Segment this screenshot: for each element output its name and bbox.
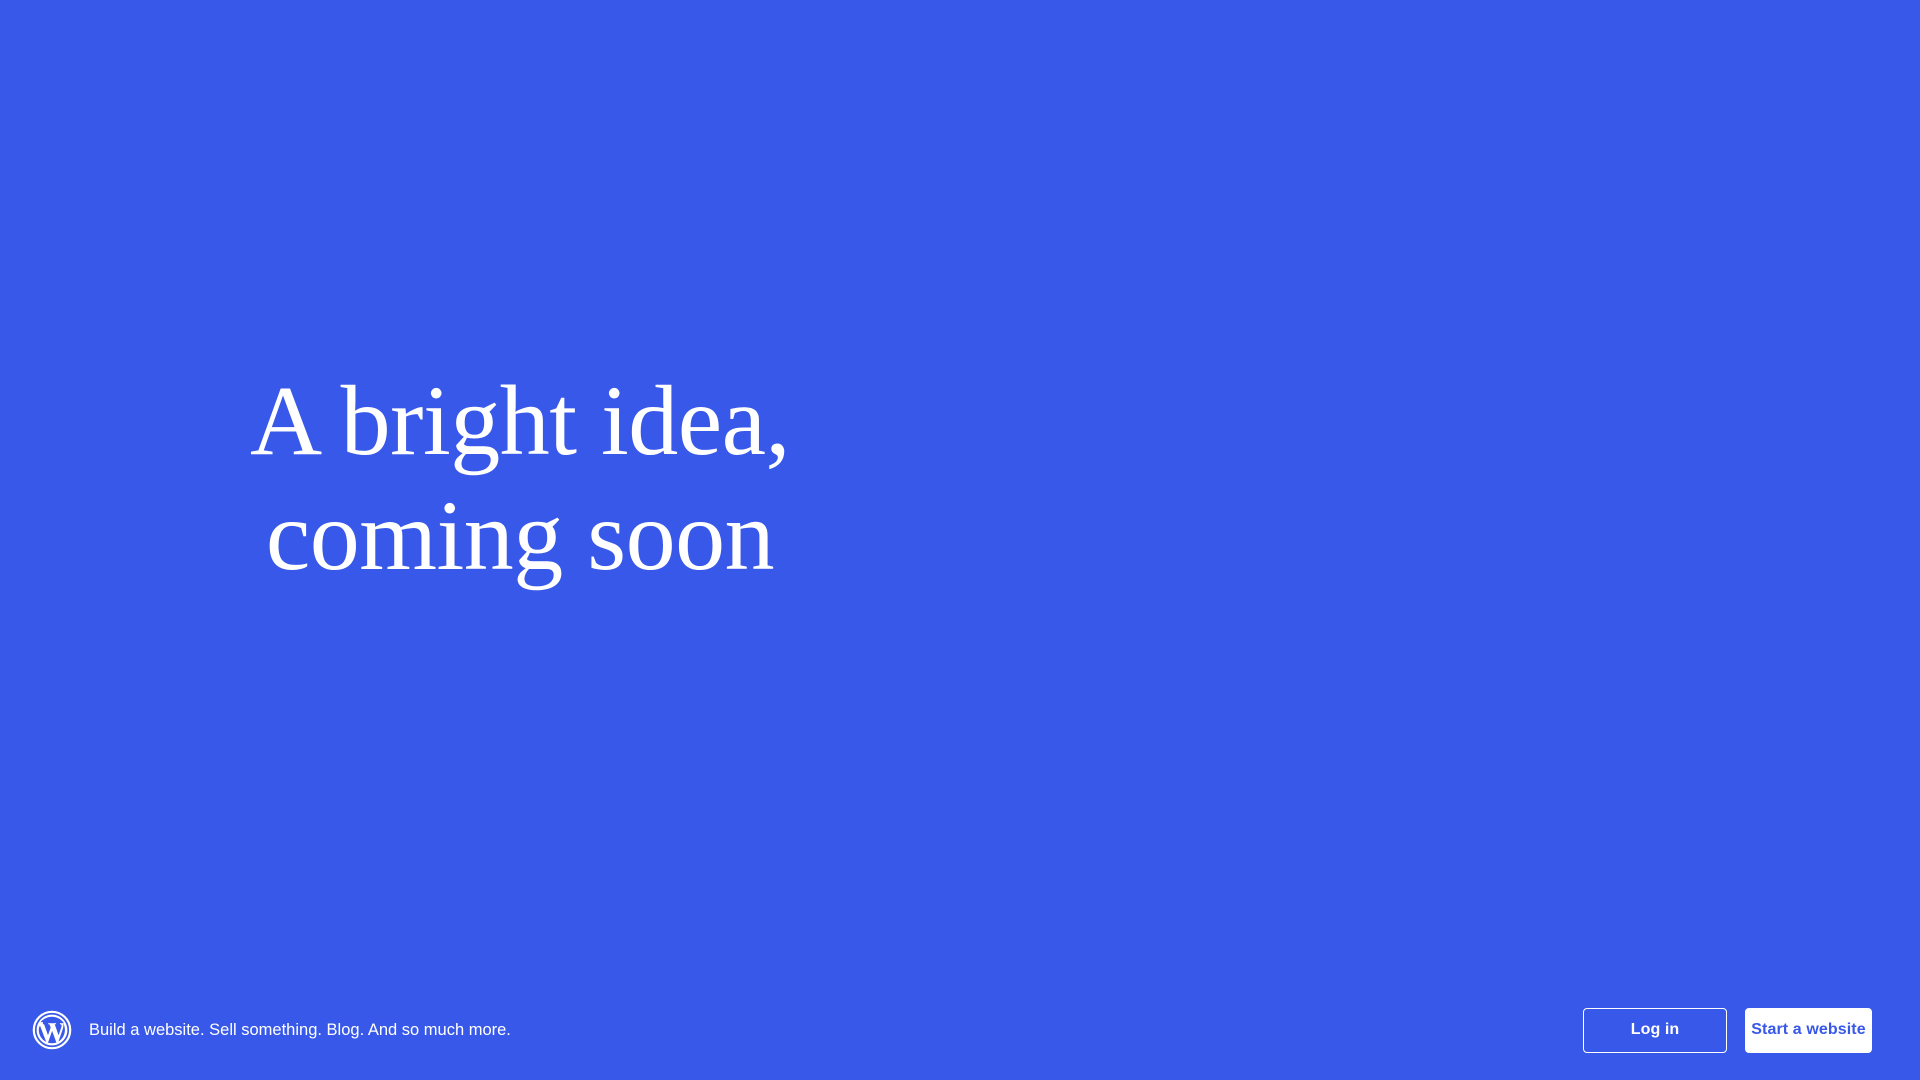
footer-actions: Log in Start a website	[1583, 1008, 1872, 1053]
coming-soon-page: A bright idea, coming soon Build a websi…	[0, 0, 1920, 1080]
start-a-website-button[interactable]: Start a website	[1745, 1008, 1872, 1053]
page-title: A bright idea, coming soon	[140, 363, 900, 593]
footer-bar: Build a website. Sell something. Blog. A…	[0, 980, 1920, 1080]
hero-content: A bright idea, coming soon	[140, 363, 900, 593]
wordpress-logo-icon	[32, 1010, 72, 1050]
footer-branding: Build a website. Sell something. Blog. A…	[32, 1010, 1583, 1050]
log-in-button[interactable]: Log in	[1583, 1008, 1727, 1053]
footer-tagline: Build a website. Sell something. Blog. A…	[89, 1019, 511, 1041]
hero-section: A bright idea, coming soon	[0, 0, 1920, 980]
